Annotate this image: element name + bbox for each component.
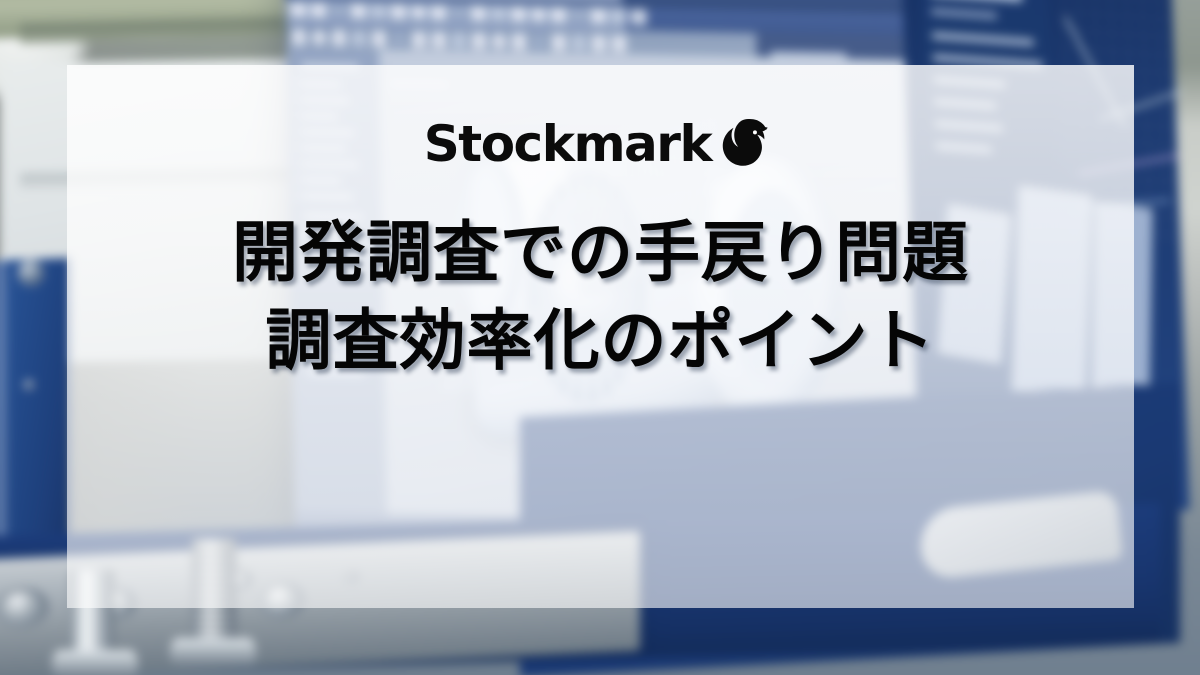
tool-icon bbox=[490, 31, 507, 50]
panel-bolt-icon bbox=[18, 260, 44, 286]
tool-icon bbox=[410, 30, 427, 49]
brand-logo: Stockmark bbox=[424, 113, 777, 175]
tool-icon bbox=[350, 29, 367, 48]
tool-icon bbox=[590, 8, 607, 25]
fixture-pin-base bbox=[52, 650, 138, 675]
tool-icon bbox=[390, 3, 407, 20]
brand-wordmark: Stockmark bbox=[424, 119, 711, 169]
tool-icon bbox=[410, 4, 427, 21]
tool-icon bbox=[430, 30, 447, 49]
tool-icon bbox=[310, 28, 327, 47]
title-line-2: 調査効率化のポイント bbox=[232, 297, 969, 385]
tool-icon bbox=[330, 28, 347, 47]
tool-icon bbox=[450, 31, 467, 50]
dashboard-card-title bbox=[930, 0, 1022, 2]
tool-icon bbox=[610, 34, 627, 53]
tool-icon bbox=[530, 6, 547, 23]
tool-icon bbox=[430, 4, 447, 21]
tool-icon bbox=[530, 32, 547, 51]
tool-icon bbox=[570, 7, 587, 24]
tool-icon bbox=[470, 5, 487, 22]
tool-icon bbox=[350, 3, 367, 20]
page-title: 開発調査での手戻り問題 調査効率化のポイント bbox=[232, 209, 969, 386]
tool-icon bbox=[510, 32, 527, 51]
tool-icon bbox=[550, 7, 567, 24]
squirrel-icon bbox=[719, 115, 777, 173]
fixture-hole bbox=[0, 587, 48, 629]
tool-icon bbox=[450, 5, 467, 22]
card-content: Stockmark 開発調査での手戻り問題 調査効率化のポイント bbox=[67, 65, 1134, 608]
tool-icon bbox=[590, 34, 607, 53]
panel-bolt-icon bbox=[24, 380, 34, 390]
dashboard-card-subtitle bbox=[931, 8, 997, 20]
tool-icon bbox=[310, 2, 327, 19]
tool-icon bbox=[510, 6, 527, 23]
tool-icon bbox=[370, 3, 387, 20]
title-line-1: 開発調査での手戻り問題 bbox=[232, 209, 969, 297]
title-card: Stockmark 開発調査での手戻り問題 調査効率化のポイント bbox=[0, 0, 1200, 675]
tool-icon bbox=[610, 8, 627, 25]
tool-icon bbox=[290, 1, 307, 18]
tool-icon bbox=[290, 27, 307, 46]
tool-icon bbox=[490, 5, 507, 22]
dashboard-card-row bbox=[932, 32, 1034, 46]
tool-icon bbox=[550, 33, 567, 52]
tool-icon bbox=[470, 31, 487, 50]
tool-icon bbox=[390, 29, 407, 48]
fixture-bolt-base bbox=[170, 638, 256, 668]
tool-icon bbox=[630, 8, 647, 25]
tool-icon bbox=[570, 33, 587, 52]
tool-icon bbox=[330, 2, 347, 19]
tool-icon bbox=[370, 29, 387, 48]
